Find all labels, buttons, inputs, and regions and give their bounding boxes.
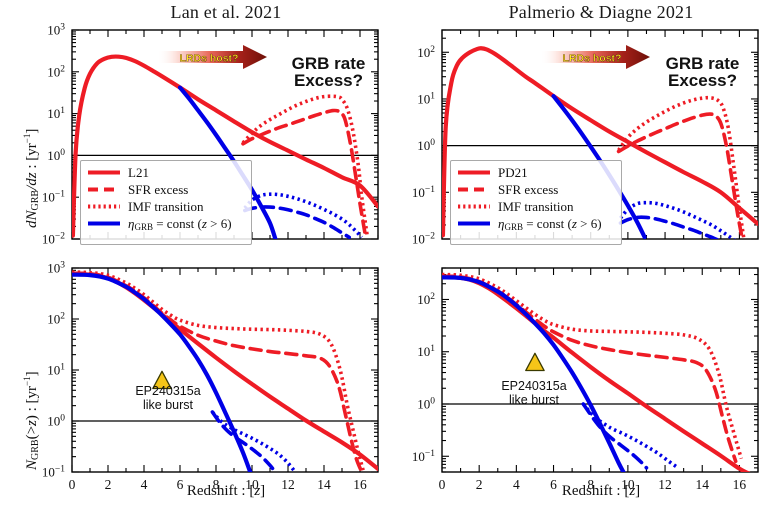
xtick-label: 4 bbox=[141, 477, 148, 492]
legend-row: IMF transition bbox=[87, 198, 245, 215]
legend-row: IMF transition bbox=[457, 198, 615, 215]
series-sfr-excess bbox=[442, 276, 736, 461]
series-pd21 bbox=[442, 277, 751, 474]
figure-root: Lan et al. 2021 Palmerio & Diagne 2021 d… bbox=[0, 0, 780, 513]
ytick-exponent: −2 bbox=[55, 232, 65, 242]
ytick-exponent: 3 bbox=[60, 261, 65, 271]
series-sfr-excess bbox=[72, 273, 362, 472]
ytick-exponent: 0 bbox=[430, 138, 435, 148]
lrds-host-arrow-right: LRDs host? bbox=[540, 45, 650, 69]
series-eta-grb-imf-transition bbox=[583, 404, 678, 468]
ytick-label: 100 bbox=[47, 148, 65, 163]
legend-row: SFR excess bbox=[87, 181, 245, 198]
ytick-label: 102 bbox=[47, 312, 65, 327]
ytick-label: 10−1 bbox=[412, 185, 435, 200]
ytick-exponent: −1 bbox=[55, 190, 65, 200]
ytick-exponent: 0 bbox=[60, 148, 65, 158]
series-sfr-excess bbox=[243, 110, 365, 235]
legend-row: L21 bbox=[87, 164, 245, 181]
xtick-label: 4 bbox=[513, 477, 520, 492]
ytick-exponent: 1 bbox=[60, 363, 65, 373]
plot-frame-bottom-right bbox=[442, 268, 758, 472]
legend-label: L21 bbox=[128, 165, 149, 181]
plot-frame-bottom-left bbox=[72, 268, 378, 472]
ytick-exponent: 3 bbox=[60, 23, 65, 33]
xtick-label: 14 bbox=[317, 477, 331, 492]
ytick-exponent: 2 bbox=[60, 312, 65, 322]
ytick-exponent: 1 bbox=[430, 91, 435, 101]
ytick-label: 102 bbox=[417, 292, 435, 307]
xtick-label: 12 bbox=[281, 477, 295, 492]
annot-ep240315a-left: EP240315a like burst bbox=[112, 385, 224, 412]
ytick-exponent: −1 bbox=[55, 465, 65, 475]
ytick-exponent: −1 bbox=[425, 185, 435, 195]
legend-top-left: L21 SFR excess IMF transition ηGRB = con… bbox=[80, 160, 252, 245]
legend-label: IMF transition bbox=[498, 199, 573, 215]
ytick-exponent: −1 bbox=[425, 449, 435, 459]
ytick-label: 101 bbox=[417, 91, 435, 106]
xtick-label: 6 bbox=[177, 477, 184, 492]
series-eta-grb-const-z-6- bbox=[442, 277, 624, 473]
xtick-label: 2 bbox=[476, 477, 483, 492]
ytick-exponent: 1 bbox=[60, 106, 65, 116]
series-eta-grb-sfr-excess bbox=[245, 207, 349, 237]
ytick-label: 101 bbox=[47, 106, 65, 121]
xtick-label: 6 bbox=[550, 477, 557, 492]
legend-label: SFR excess bbox=[128, 182, 188, 198]
ytick-label: 100 bbox=[417, 397, 435, 412]
series-group-bottom-left bbox=[72, 272, 378, 472]
legend-top-right: PD21 SFR excess IMF transition ηGRB = co… bbox=[450, 160, 622, 245]
legend-row: SFR excess bbox=[457, 181, 615, 198]
ytick-label: 101 bbox=[47, 363, 65, 378]
legend-row: ηGRB = const (z > 6) bbox=[87, 215, 245, 232]
ytick-label: 103 bbox=[47, 23, 65, 38]
ytick-label: 10−2 bbox=[42, 232, 65, 247]
annot-grb-rate-excess-right: GRB rate Excess? bbox=[650, 55, 755, 90]
annot-ep240315a-right: EP240315a like burst bbox=[478, 380, 590, 407]
ytick-exponent: 0 bbox=[60, 414, 65, 424]
ytick-label: 10−1 bbox=[412, 449, 435, 464]
ytick-label: 102 bbox=[47, 64, 65, 79]
ytick-exponent: 2 bbox=[60, 64, 65, 74]
legend-label: PD21 bbox=[498, 165, 528, 181]
ep240315a-triangle-marker bbox=[526, 353, 544, 370]
ytick-label: 10−2 bbox=[412, 232, 435, 247]
ytick-label: 10−1 bbox=[42, 190, 65, 205]
xtick-label: 8 bbox=[587, 477, 594, 492]
lrds-host-label: LRDs host? bbox=[180, 53, 239, 65]
legend-label: SFR excess bbox=[498, 182, 558, 198]
xtick-label: 2 bbox=[105, 477, 112, 492]
ytick-label: 101 bbox=[417, 344, 435, 359]
legend-label: IMF transition bbox=[128, 199, 203, 215]
legend-row: PD21 bbox=[457, 164, 615, 181]
ytick-label: 100 bbox=[417, 138, 435, 153]
ytick-label: 10−1 bbox=[42, 465, 65, 480]
ytick-exponent: 0 bbox=[430, 397, 435, 407]
ytick-exponent: 1 bbox=[430, 344, 435, 354]
ytick-exponent: 2 bbox=[430, 292, 435, 302]
ytick-label: 100 bbox=[47, 414, 65, 429]
panel-bottom-left: 10310210110010−10246810121416 bbox=[42, 261, 378, 493]
legend-label-eta: ηGRB = const (z > 6) bbox=[498, 216, 602, 232]
legend-label-eta: ηGRB = const (z > 6) bbox=[128, 216, 232, 232]
lrds-host-label: LRDs host? bbox=[563, 53, 622, 65]
ytick-label: 103 bbox=[47, 261, 65, 276]
ytick-exponent: 2 bbox=[430, 45, 435, 55]
xtick-label: 0 bbox=[69, 477, 76, 492]
series-imf-transition bbox=[72, 272, 364, 472]
xtick-label: 8 bbox=[213, 477, 220, 492]
lrds-host-arrow-left: LRDs host? bbox=[157, 45, 267, 69]
xtick-label: 10 bbox=[621, 477, 635, 492]
ytick-exponent: −2 bbox=[425, 232, 435, 242]
xtick-label: 14 bbox=[695, 477, 709, 492]
annot-grb-rate-excess-left: GRB rate Excess? bbox=[276, 55, 381, 90]
xtick-label: 16 bbox=[733, 477, 747, 492]
legend-row: ηGRB = const (z > 6) bbox=[457, 215, 615, 232]
ytick-label: 102 bbox=[417, 45, 435, 60]
series-group-bottom-right bbox=[442, 275, 751, 475]
xtick-label: 12 bbox=[658, 477, 672, 492]
xtick-label: 16 bbox=[353, 477, 367, 492]
xtick-label: 10 bbox=[245, 477, 259, 492]
xtick-label: 0 bbox=[439, 477, 446, 492]
